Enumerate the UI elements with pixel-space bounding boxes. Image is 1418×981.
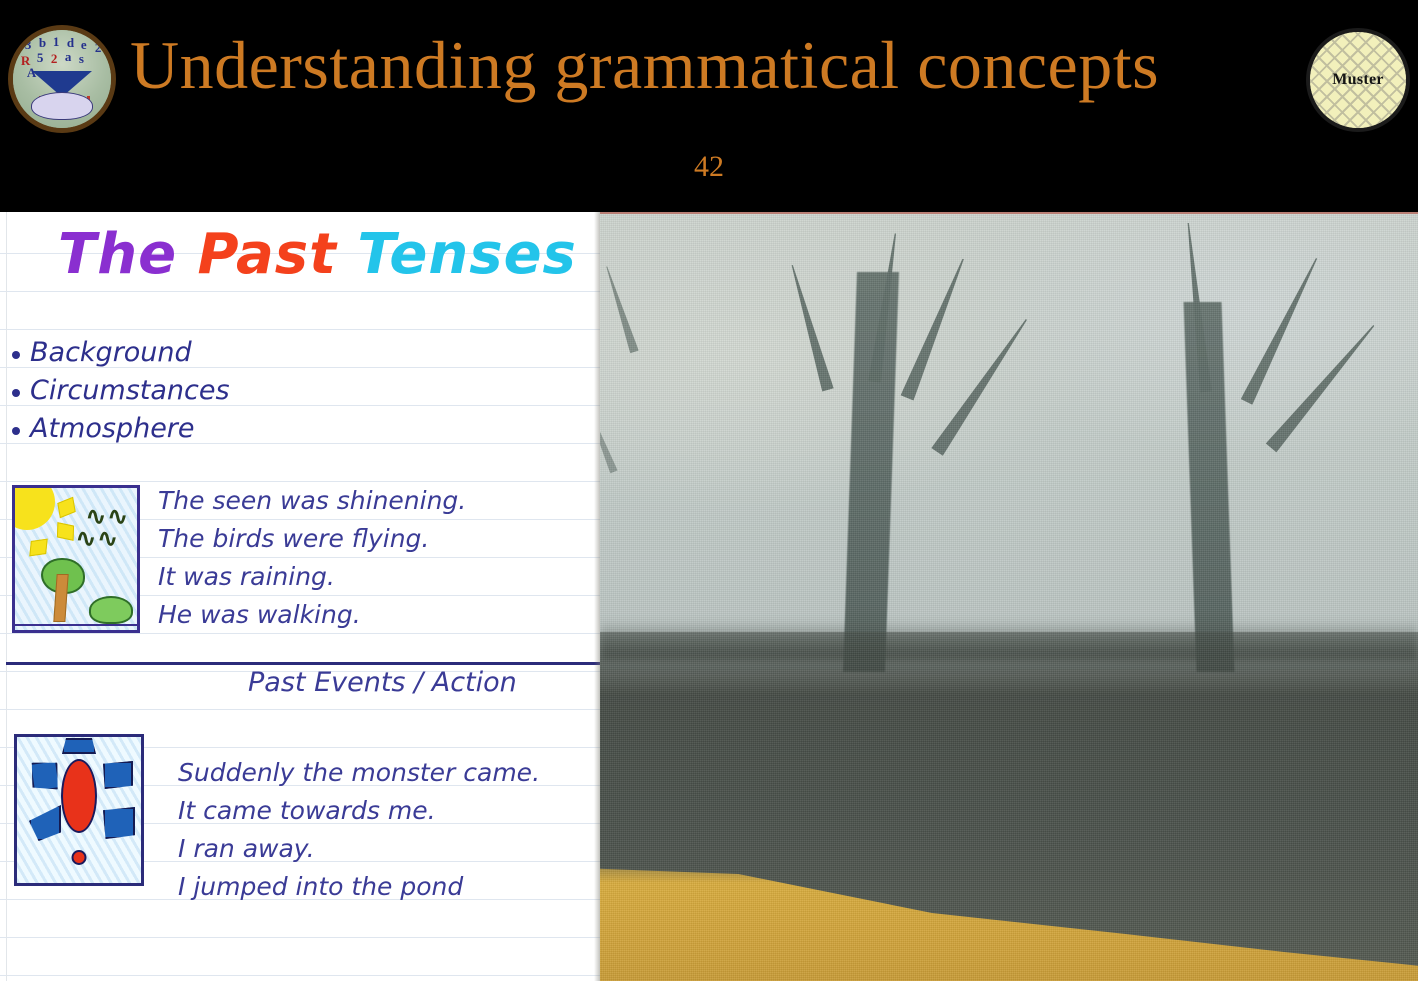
background-sentences: The seen was shinening. The birds were f… [158,482,466,634]
handwritten-line: Suddenly the monster came. [178,754,540,792]
blue-shard [29,759,61,793]
list-item: Background [8,334,230,372]
muster-logo: Muster [1306,28,1410,132]
sun-icon [12,485,55,530]
notebook-title-word-1: The [58,222,177,287]
notebook-title: The Past Tenses [58,222,577,287]
list-item: Circumstances [8,372,230,410]
page-number: 42 [0,150,1418,184]
page-title: Understanding grammatical concepts [130,30,1280,101]
exclamation-mark-drawing [14,734,144,886]
painting-top-border [600,212,1418,214]
handwritten-line: It came towards me. [178,792,540,830]
tree-trunk [53,574,68,622]
bird-icon: ∿∿ [75,526,119,552]
bush-shape [89,596,133,624]
sun-ray [29,539,47,557]
section-divider [6,662,600,665]
misty-trees-watercolour [600,212,1418,981]
notebook-page-image: The Past Tenses Background Circumstances… [0,212,600,981]
handwritten-line: He was walking. [158,596,466,634]
blue-shard [29,805,61,841]
handwritten-line: I jumped into the pond [178,868,540,906]
slide-header: 3 b 1 d e 2 R 5 2 a s A x c Un [0,0,1418,212]
sun-ray [57,522,74,541]
exclamation-body [61,759,97,833]
list-item: Atmosphere [8,410,230,448]
funnel-brain-logo: 3 b 1 d e 2 R 5 2 a s A x c [8,25,116,133]
brain-shape [31,92,93,120]
sun-ray [57,497,75,518]
slide-content: The Past Tenses Background Circumstances… [0,212,1418,981]
blue-shard [103,761,133,789]
handwritten-line: It was raining. [158,558,466,596]
blue-shard [103,807,135,839]
section-heading: Past Events / Action [248,667,517,698]
ground-line [15,624,137,626]
handwritten-line: The birds were flying. [158,520,466,558]
notebook-title-word-3: Tenses [357,222,576,287]
notebook-title-word-2: Past [198,222,337,287]
painting-sky [600,214,1418,674]
handwritten-line: I ran away. [178,830,540,868]
muster-label: Muster [1332,71,1384,89]
blue-shard [62,738,96,754]
event-sentences: Suddenly the monster came. It came towar… [178,754,540,906]
exclamation-dot [72,850,87,865]
margin-line [6,212,7,981]
logo-left-letters: 3 b 1 d e 2 R 5 2 a s A x c [19,36,105,69]
slide: 3 b 1 d e 2 R 5 2 a s A x c Un [0,0,1418,981]
bullet-list: Background Circumstances Atmosphere [8,334,230,448]
sunny-scene-drawing: ∿∿ ∿∿ [12,485,140,633]
handwritten-line: The seen was shinening. [158,482,466,520]
